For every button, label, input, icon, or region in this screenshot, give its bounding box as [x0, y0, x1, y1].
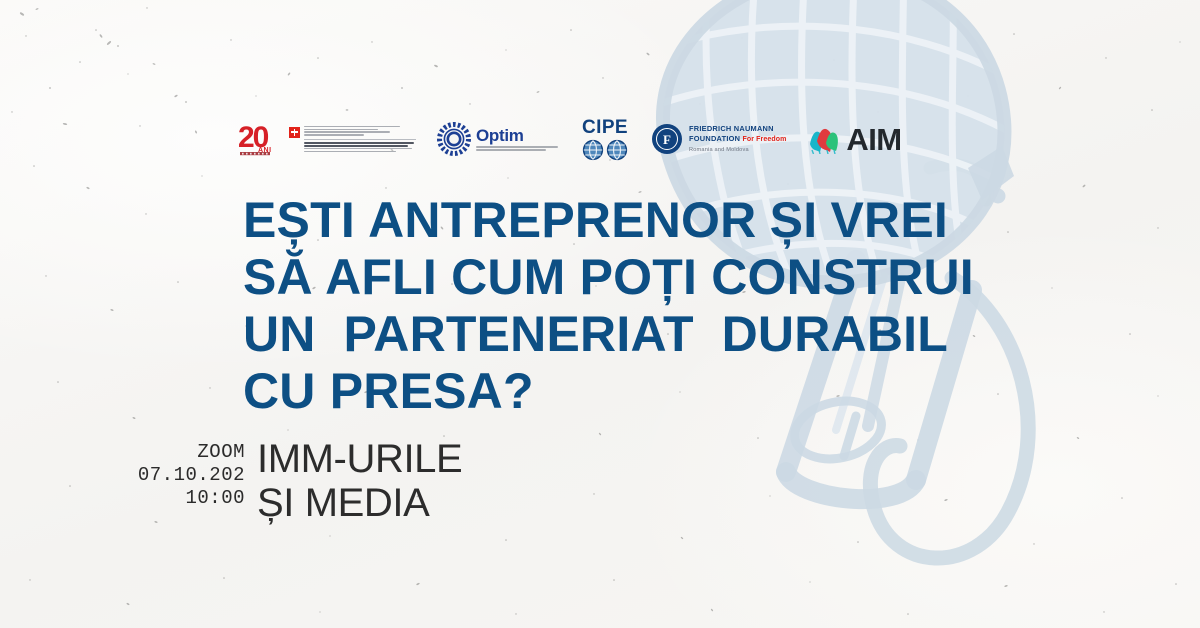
- headline: EȘTI ANTREPRENOR ȘI VREI SĂ AFLI CUM POȚ…: [243, 192, 963, 420]
- headline-line3-word3: DURABIL: [722, 306, 948, 363]
- event-topic-line1: IMM-URILE: [257, 437, 462, 481]
- headline-line-4: CU PRESA?: [243, 363, 963, 420]
- logo-cipe: CIPE: [569, 113, 641, 165]
- headline-line-3: UN PARTENERIAT DURABIL: [243, 306, 948, 363]
- fnf-freedom-tagline: For Freedom: [743, 136, 787, 143]
- headline-line-2: SĂ AFLI CUM POȚI CONSTRUI: [243, 249, 963, 306]
- fnf-line2: FOUNDATION: [689, 134, 740, 143]
- swiss-flag-icon: [289, 127, 300, 138]
- headline-line1-word1: EȘTI: [243, 192, 355, 249]
- headline-line-1: EȘTI ANTREPRENOR ȘI VREI: [243, 192, 948, 249]
- aim-brushstroke-icon: [808, 124, 844, 154]
- event-topic: IMM-URILE ȘI MEDIA: [257, 437, 462, 525]
- optim-wordmark: Optim: [476, 127, 558, 144]
- event-time: 10:00: [120, 487, 245, 510]
- event-topic-line2: ȘI MEDIA: [257, 481, 462, 525]
- event-date: 07.10.202: [120, 464, 245, 487]
- event-meta: ZOOM 07.10.202 10:00: [120, 437, 245, 510]
- fnf-badge-icon: F: [652, 124, 682, 154]
- headline-line1-word2: ANTREPRENOR: [368, 192, 756, 249]
- logo-friedrich-naumann-foundation: F FRIEDRICH NAUMANN FOUNDATION For Freed…: [641, 113, 797, 165]
- swiss-confederation-block: [289, 126, 416, 152]
- twenty-years-anniversary-icon: 20 ANI: [238, 119, 282, 159]
- aim-wordmark: AIM: [846, 124, 901, 155]
- fnf-initial: F: [656, 128, 678, 150]
- headline-line3-word1: UN: [243, 306, 316, 363]
- partner-logos: 20 ANI: [238, 113, 901, 165]
- fnf-line1: FRIEDRICH NAUMANN: [689, 125, 786, 133]
- cipe-wordmark: CIPE: [582, 118, 628, 137]
- optim-gear-icon: [437, 122, 471, 156]
- event-platform: ZOOM: [120, 441, 245, 464]
- event-info: ZOOM 07.10.202 10:00 IMM-URILE ȘI MEDIA: [120, 437, 462, 525]
- logo-optim: Optim: [426, 113, 569, 165]
- cipe-globes-icon: [580, 139, 630, 161]
- logo-swiss-cooperation: 20 ANI: [238, 113, 426, 165]
- fnf-region: Romania and Moldova: [689, 147, 786, 153]
- headline-line1-word3: ȘI: [770, 192, 818, 249]
- headline-line1-word4: VREI: [831, 192, 949, 249]
- headline-line3-word2: PARTENERIAT: [343, 306, 693, 363]
- logo-aim: AIM: [797, 113, 901, 165]
- event-poster: 20 ANI: [0, 0, 1200, 628]
